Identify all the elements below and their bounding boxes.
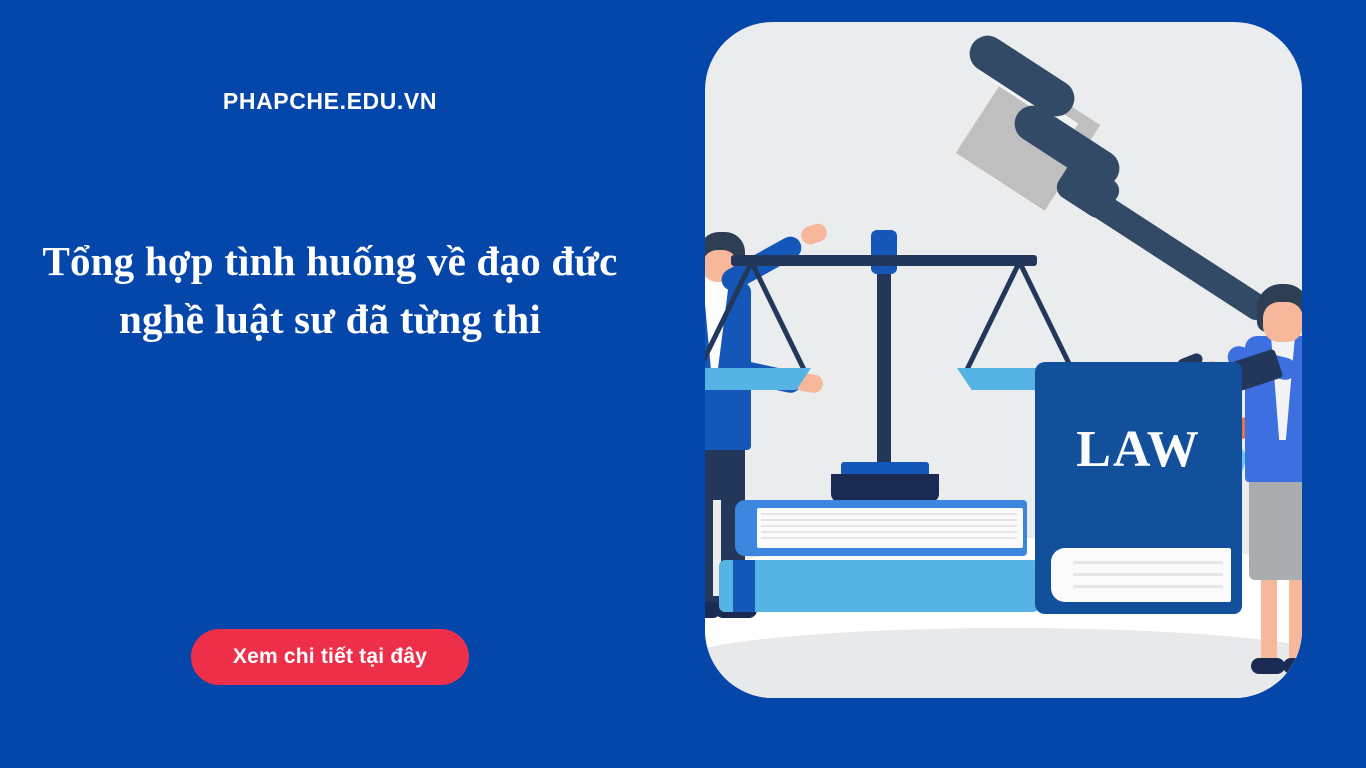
lawyer-right-face [1263, 302, 1302, 342]
promo-banner: PHAPCHE.EDU.VN Tổng hợp tình huống về đạ… [0, 0, 1366, 768]
page-line [1073, 561, 1223, 564]
page-line [1073, 585, 1223, 588]
page-line [1073, 573, 1223, 576]
lawyer-right-shoe-2 [1283, 658, 1302, 674]
scale-pan-left [705, 368, 811, 390]
page-title: Tổng hợp tình huống về đạo đức nghề luật… [16, 232, 644, 348]
page-line [761, 519, 1017, 521]
text-column: PHAPCHE.EDU.VN Tổng hợp tình huống về đạ… [0, 0, 680, 768]
view-details-button[interactable]: Xem chi tiết tại đây [191, 629, 469, 685]
page-line [761, 525, 1017, 527]
stacked-book-top [735, 500, 1027, 556]
stacked-book-bottom [719, 560, 1039, 612]
law-book-title: LAW [1035, 420, 1242, 479]
scale-post-cap [871, 230, 897, 274]
stacked-book-bottom-spine [733, 560, 755, 612]
law-book: LAW [1035, 362, 1242, 614]
page-line [761, 537, 1017, 539]
page-line [761, 513, 1017, 515]
scale-base-block [831, 474, 939, 502]
cta-container: Xem chi tiết tại đây [0, 629, 660, 685]
lawyer-right-leg-1 [1261, 576, 1277, 664]
site-brand-label: PHAPCHE.EDU.VN [0, 88, 660, 115]
page-line [761, 531, 1017, 533]
scale-string-left-1 [749, 261, 808, 375]
illustration-card: LAW [705, 22, 1302, 698]
stacked-book-top-pages [757, 508, 1023, 548]
lawyer-right-shoe-1 [1251, 658, 1285, 674]
law-book-pages [1051, 548, 1231, 602]
scale-string-left-2 [705, 261, 754, 375]
lawyer-right-leg-2 [1289, 576, 1302, 664]
lawyer-right-skirt [1249, 476, 1302, 580]
